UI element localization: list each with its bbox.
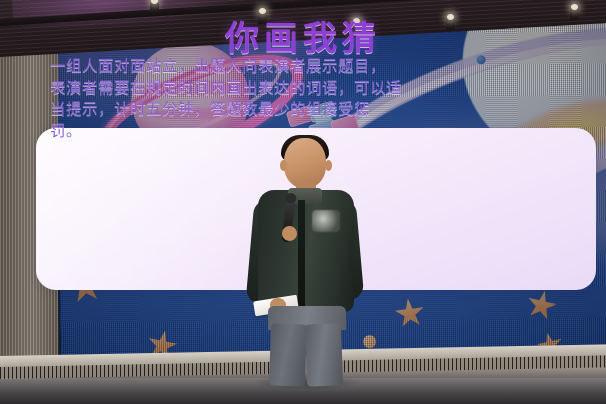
presenter-chest-emblem — [312, 210, 340, 232]
presenter-head — [284, 138, 326, 188]
presenter-jacket — [258, 190, 354, 312]
presenter-leg-left — [269, 323, 307, 386]
presenter — [246, 138, 368, 386]
star-icon — [393, 297, 426, 330]
presenter-ear — [325, 160, 332, 171]
presenter-leg-right — [305, 323, 343, 386]
presenter-ear — [280, 160, 287, 171]
slide-title: 你画我猜 — [0, 11, 606, 60]
presenter-hand-holding-mic — [282, 226, 297, 241]
stage-photo-scene: 你画我猜 一组人面对面站立，出题人向表演者展示题目， 表演者需要在规定时间内画出… — [0, 0, 606, 404]
slide-body-text: 一组人面对面站立，出题人向表演者展示题目， 表演者需要在规定时间内画出表达的词语… — [50, 56, 586, 142]
star-icon — [524, 287, 560, 323]
presenter-jacket-placket — [298, 200, 305, 312]
